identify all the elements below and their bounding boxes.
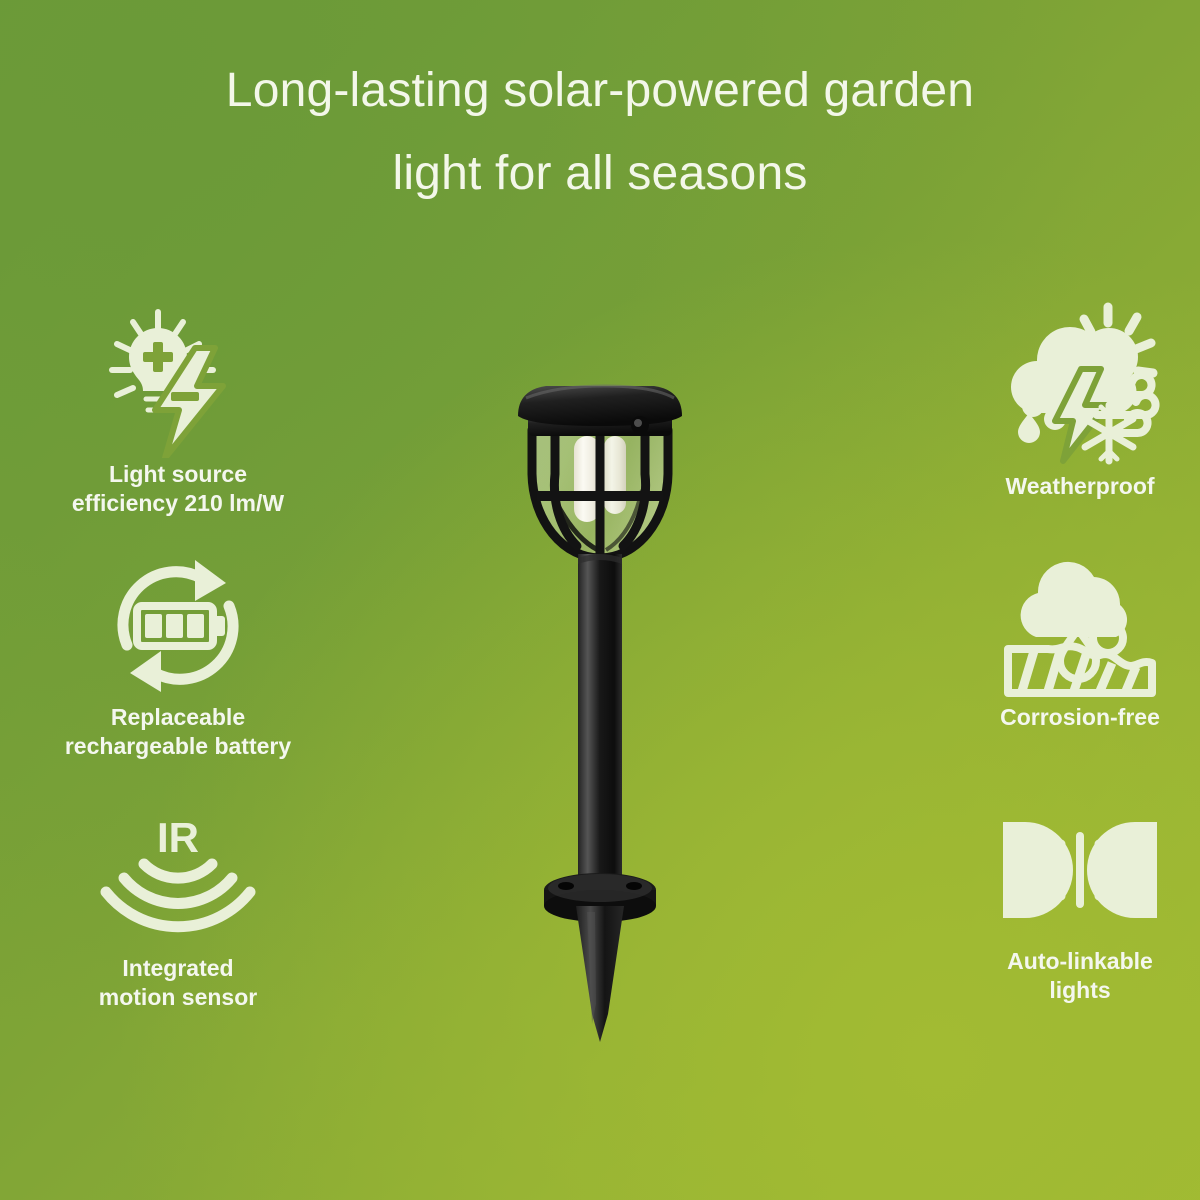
feature-light-efficiency-label: Light source efficiency 210 lm/W: [28, 460, 328, 519]
feature-rechargeable-battery: Replaceable rechargeable battery: [28, 551, 328, 762]
ir-motion-sensor-icon: IR: [28, 802, 328, 952]
feature-weatherproof-label: Weatherproof: [930, 472, 1200, 501]
feature-rechargeable-battery-label: Replaceable rechargeable battery: [28, 703, 328, 762]
page-title: Long-lasting solar-powered garden light …: [0, 62, 1200, 203]
infographic-canvas: Long-lasting solar-powered garden light …: [0, 0, 1200, 1200]
flange-hole-right: [626, 882, 642, 890]
ir-badge-text: IR: [157, 814, 199, 861]
pole: [578, 554, 622, 884]
feature-auto-linkable-label: Auto-linkable lights: [930, 947, 1200, 1006]
feature-column-left: Light source efficiency 210 lm/W: [28, 300, 328, 1027]
feature-auto-linkable: Auto-linkable lights: [930, 795, 1200, 1006]
feature-motion-sensor: IR Integrated motion sensor: [28, 802, 328, 1013]
feature-corrosion-free-label: Corrosion-free: [930, 703, 1200, 732]
feature-weatherproof: Weatherproof: [930, 300, 1200, 501]
headline-line-2: light for all seasons: [0, 145, 1200, 204]
ground-spike: [576, 906, 624, 1042]
feature-column-right: Weatherproof: [930, 300, 1200, 1020]
headline-line-1: Long-lasting solar-powered garden: [226, 64, 974, 117]
product-image-solar-garden-light: [492, 378, 708, 1048]
corrosion-cloud-drip-icon: [930, 551, 1200, 701]
rechargeable-battery-icon: [28, 551, 328, 701]
feature-light-efficiency: Light source efficiency 210 lm/W: [28, 300, 328, 519]
feature-motion-sensor-label: Integrated motion sensor: [28, 954, 328, 1013]
flange-hole-left: [558, 882, 574, 890]
lightbulb-bolt-icon: [28, 300, 328, 458]
auto-link-signal-icon: [930, 795, 1200, 945]
weather-cloud-sun-icon: [930, 300, 1200, 470]
light-sensor-glint: [634, 419, 642, 427]
feature-corrosion-free: Corrosion-free: [930, 551, 1200, 732]
